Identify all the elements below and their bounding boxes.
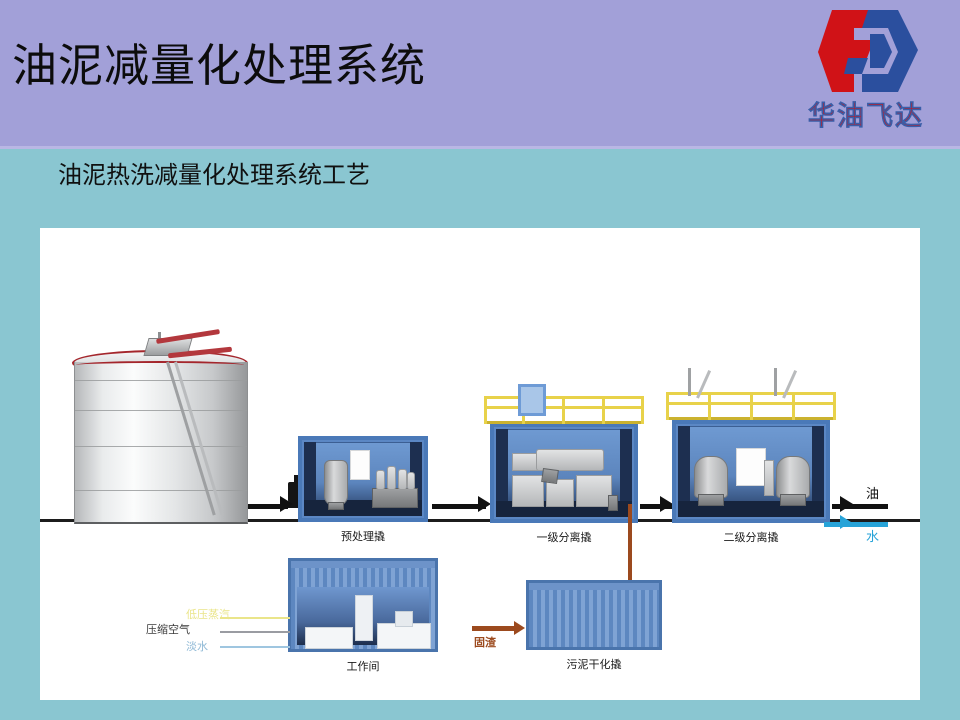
utility-label-freshwater: 淡水 — [186, 638, 208, 654]
primary-skid-access-frame — [518, 384, 546, 416]
utility-line-water — [220, 646, 290, 648]
sludge-drying-skid-label: 污泥干化撬 — [514, 656, 674, 672]
output-label-water: 水 — [866, 526, 879, 545]
arrow-oil-out — [840, 496, 853, 512]
utility-label-air: 压缩空气 — [146, 621, 190, 637]
company-logo: 华油飞达 — [786, 6, 946, 140]
secondary-separation-skid: 二级分离撬 — [672, 420, 830, 523]
tank-roof-trim — [76, 361, 244, 369]
utility-line-steam — [220, 617, 290, 619]
secondary-skid-railing — [666, 392, 836, 420]
arrow-residue-out — [514, 621, 525, 635]
sludge-drying-skid — [526, 580, 662, 650]
slide-subtitle: 油泥热洗减量化处理系统工艺 — [58, 158, 370, 192]
pretreatment-skid-label: 预处理撬 — [283, 528, 443, 544]
pretreatment-vessel — [324, 460, 348, 506]
slide-canvas: 油泥减量化处理系统 华油飞达 油泥热洗减量化处理系统工艺 — [0, 0, 960, 720]
pipe-residue-out — [472, 626, 518, 631]
output-label-solid-residue: 固渣 — [474, 634, 496, 650]
header-divider — [0, 146, 960, 149]
centrifuge-left — [694, 456, 728, 498]
control-panel — [350, 450, 370, 480]
utility-label-steam: 低压蒸汽 — [186, 606, 230, 622]
centrifuge-right — [776, 456, 810, 498]
utility-line-air — [220, 631, 290, 633]
fd-monogram-icon — [810, 8, 926, 96]
workshop-container — [288, 558, 438, 652]
primary-separation-skid-label: 一级分离撬 — [484, 529, 644, 545]
crane-mast-left — [688, 368, 691, 396]
logo-wordmark: 华油飞达 — [786, 94, 946, 133]
arrow-water-out — [840, 515, 851, 529]
workshop-equipment — [395, 611, 413, 627]
pretreatment-pump-base — [372, 488, 418, 508]
secondary-control-panel — [736, 448, 766, 486]
process-diagram-panel: 预处理撬 一级分离撬 — [40, 228, 920, 700]
secondary-separation-skid-label: 二级分离撬 — [671, 529, 831, 545]
workshop-partition — [355, 595, 373, 641]
primary-skid-railing — [484, 396, 644, 424]
arrow-into-pretreatment — [280, 496, 293, 512]
output-label-oil: 油 — [866, 483, 879, 502]
crane-mast-right — [774, 368, 777, 396]
page-title: 油泥减量化处理系统 — [12, 40, 426, 92]
pretreatment-skid: 预处理撬 — [298, 436, 428, 522]
workshop-label: 工作间 — [283, 658, 443, 674]
storage-tank — [70, 328, 250, 523]
workshop-bench-left — [305, 627, 353, 649]
tank-body — [74, 362, 248, 524]
primary-separation-skid: 一级分离撬 — [490, 423, 638, 523]
